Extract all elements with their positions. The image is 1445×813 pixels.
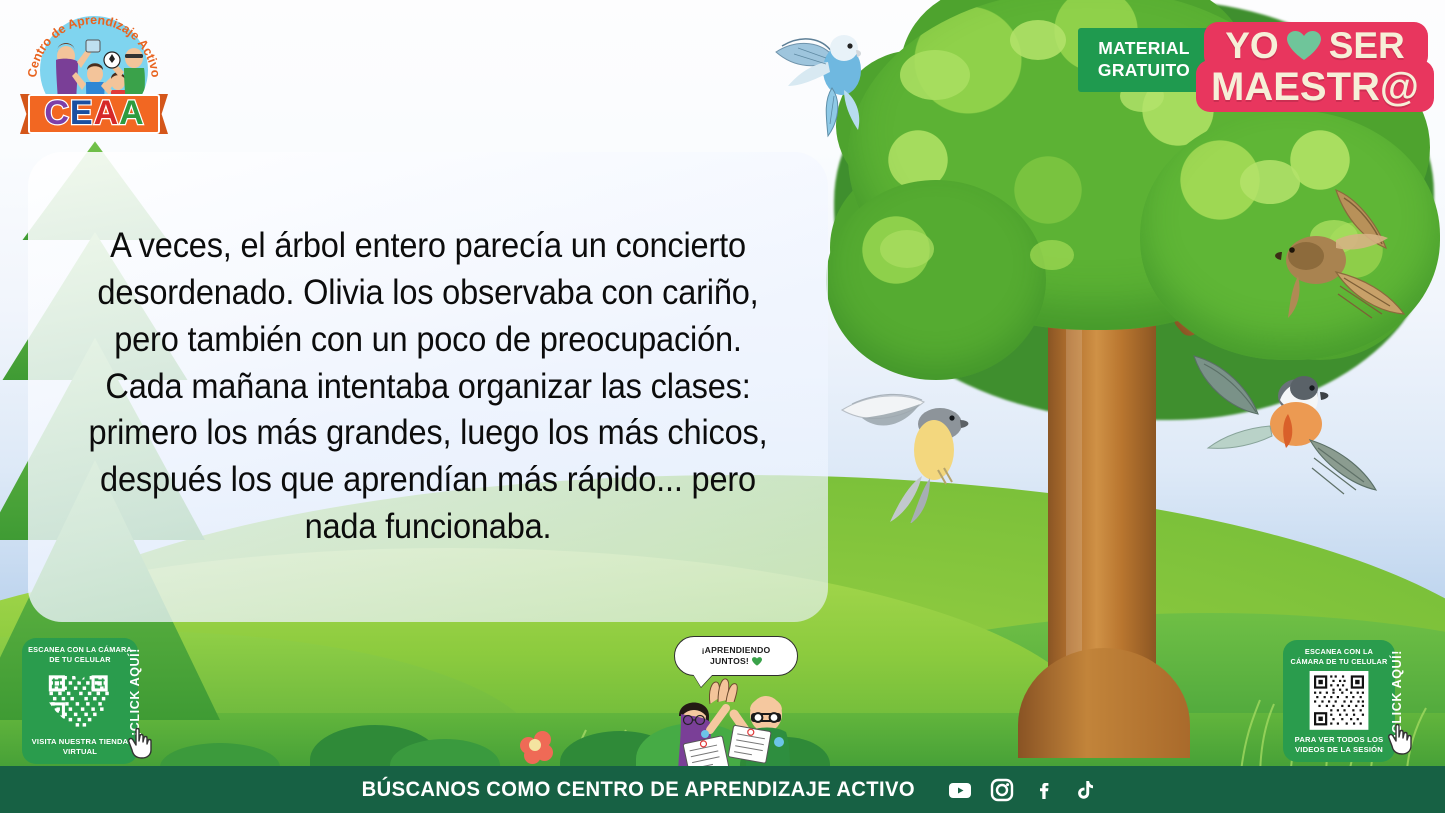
maestro-word-ser: SER [1329, 25, 1405, 67]
qr-panel-videos[interactable]: ESCANEA CON LA CÁMARA DE TU CELULAR [1283, 640, 1395, 762]
footer-text: BÚSCANOS COMO CENTRO DE APRENDIZAJE ACTI… [362, 777, 915, 802]
tree-trunk-base [1018, 648, 1190, 758]
material-line-2: GRATUITO [1098, 60, 1190, 82]
qr-left-bottom-label: VISITA NUESTRA TIENDA VIRTUAL [22, 732, 138, 765]
leaf-highlight [880, 230, 934, 268]
qr-right-bottom-label: PARA VER TODOS LOS VIDEOS DE LA SESIÓN [1283, 730, 1395, 763]
material-line-1: MATERIAL [1098, 38, 1190, 60]
logo-letter-a2: A [119, 96, 144, 130]
orange-chickadee-bird-icon [1184, 348, 1384, 518]
qr-heart-icon[interactable] [37, 669, 123, 732]
blue-budgie-bird-icon [768, 18, 898, 148]
qr-right-top-label: ESCANEA CON LA CÁMARA DE TU CELULAR [1283, 640, 1395, 671]
logo-arc-label: Centro de Aprendizaje Activo [25, 13, 163, 79]
maestro-word-maestro: MAESTR@ [1211, 65, 1419, 110]
svg-text:Centro de Aprendizaje Activo: Centro de Aprendizaje Activo [25, 13, 163, 79]
logo-letter-e: E [70, 96, 93, 130]
logo-letter-a1: A [94, 96, 119, 130]
facebook-icon[interactable] [1029, 775, 1059, 805]
brown-sparrow-bird-icon [1240, 168, 1415, 343]
qr-square-icon[interactable] [1299, 671, 1379, 730]
ceaa-logo[interactable]: Centro de Aprendizaje Activo C E A A [18, 8, 170, 140]
yo-amo-ser-maestro-badge: YO SER MAESTR@ [1196, 16, 1434, 116]
tree-canopy-left [826, 180, 1046, 380]
leaf-highlight [1030, 240, 1074, 270]
logo-banner: C E A A [20, 90, 168, 136]
qr-left-top-label: ESCANEA CON LA CÁMARA DE TU CELULAR [22, 638, 138, 669]
story-text-card: A veces, el árbol entero parecía un conc… [28, 152, 828, 622]
logo-letter-c: C [44, 96, 69, 130]
footer-bar: BÚSCANOS COMO CENTRO DE APRENDIZAJE ACTI… [0, 766, 1445, 813]
bubble-line-1: ¡APRENDIENDO [702, 645, 771, 656]
material-gratuito-badge: MATERIAL GRATUITO [1078, 28, 1210, 92]
story-text: A veces, el árbol entero parecía un conc… [80, 223, 776, 551]
instagram-icon[interactable] [987, 775, 1017, 805]
tiktok-icon[interactable] [1071, 775, 1101, 805]
logo-acronym: C E A A [20, 90, 168, 136]
maestro-word-yo: YO [1225, 25, 1278, 67]
pointing-hand-cursor-right-icon [1384, 722, 1418, 756]
white-yellow-bird-icon [838, 358, 1003, 523]
poster-canvas: A veces, el árbol entero parecía un conc… [0, 0, 1445, 813]
flower-icon [520, 731, 554, 761]
two-teachers-figures [648, 670, 828, 780]
bubble-line-2: JUNTOS! [710, 656, 749, 667]
youtube-icon[interactable] [945, 775, 975, 805]
leaf-highlight [1010, 20, 1066, 60]
bubble-heart-icon [752, 657, 762, 666]
maestro-row-top: YO SER [1196, 24, 1434, 68]
maestro-row-bottom: MAESTR@ [1196, 64, 1434, 110]
pointing-hand-cursor-icon [124, 726, 158, 760]
heart-icon [1287, 31, 1321, 61]
teachers-illustration: ¡APRENDIENDO JUNTOS! [648, 636, 828, 780]
qr-panel-store[interactable]: ESCANEA CON LA CÁMARA DE TU CELULAR [22, 638, 138, 764]
qr-left-click-label[interactable]: ¡CLICK AQUÍ! [128, 648, 142, 736]
leaf-highlight [900, 50, 970, 100]
